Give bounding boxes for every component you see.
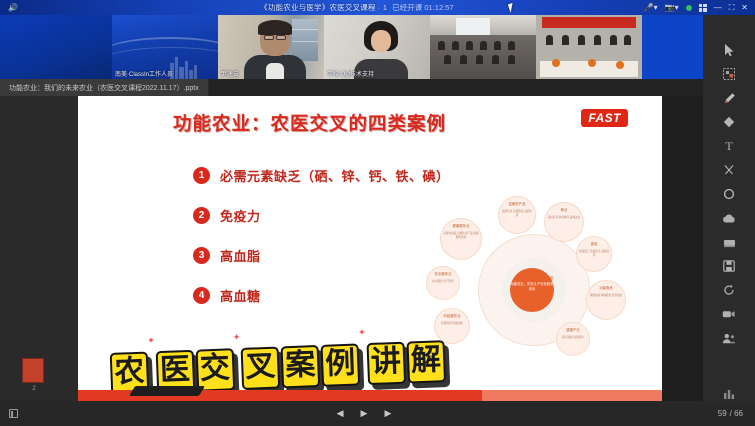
side-panel-icon[interactable] [9, 409, 18, 418]
participant-name: 南美·ClassIn工作人员 [115, 69, 173, 78]
node-text: 技术服务 生产服务 [427, 280, 459, 284]
person-hair [258, 20, 292, 35]
titlebar-right-group: 🎤▾ 📷▾ — ⛶ ✕ [644, 3, 755, 13]
close-button[interactable]: ✕ [741, 3, 748, 12]
person-face [371, 30, 391, 52]
node-text: 富硒大米 富硒蔬菜 富硒水果 [499, 210, 535, 218]
video-tile[interactable] [536, 15, 642, 79]
bar-chart-icon [723, 388, 735, 400]
bullet-number: 2 [193, 207, 210, 224]
infographic-core-label: 功能农业、学农业 产业化服务体系 [510, 282, 554, 292]
banner-char: 例 [321, 343, 361, 386]
canvas-right-margin [662, 96, 703, 401]
microphone-icon[interactable]: 🎤▾ [644, 4, 658, 12]
node-label: 功能食品 [587, 286, 625, 291]
grid-layout-icon[interactable] [699, 4, 707, 12]
refresh-icon [723, 284, 735, 296]
bullet-text: 高血脂 [220, 246, 261, 265]
cloud-upload[interactable] [716, 207, 742, 229]
participant-name: 尹逸云 [221, 69, 239, 78]
grid-select-icon [723, 68, 735, 80]
sparkle-icon: ✦ [358, 327, 366, 338]
video-tile[interactable]: 学校 QQ技术支持 [324, 15, 430, 79]
node-label: 种业 [545, 208, 583, 213]
eraser-tool[interactable] [716, 231, 742, 253]
previous-slide-button[interactable]: ◀ [337, 408, 344, 419]
shape-tool[interactable] [716, 111, 742, 133]
cloud-icon [722, 213, 736, 224]
footer-bar-highlight [482, 390, 662, 401]
infographic-core: 功能农业、学农业 产业化服务体系 [510, 268, 554, 312]
text-tool[interactable]: T [716, 135, 742, 157]
meeting-title-bar: 🔊 《功能农业与医学》农医交叉课程 · 1 已经开课 01:12:57 🎤▾ 📷… [0, 0, 755, 15]
video-tile[interactable] [0, 15, 112, 79]
video-tile[interactable]: 南美·ClassIn工作人员 [112, 15, 218, 79]
people-icon [722, 333, 736, 344]
bottombar-left-group [0, 409, 78, 418]
infographic-node: 健康服务业 功能性食品 功能性农产品 健康服务管理 [440, 218, 482, 260]
bullet-item: 4 高血糖 [193, 286, 261, 305]
node-label: 健康服务业 [441, 224, 481, 229]
meeting-title: 《功能农业与医学》农医交叉课程 · 1 [260, 2, 387, 13]
fast-logo: FAST [581, 109, 628, 127]
minimize-button[interactable]: — [714, 3, 722, 12]
bullet-number: 1 [193, 167, 210, 184]
grid-tool[interactable] [716, 63, 742, 85]
node-label: 农业服务业 [427, 272, 459, 277]
banner-char: 解 [406, 340, 446, 383]
window-decor [292, 19, 318, 61]
playback-bottom-bar: ◀ ▶ ▶ 59 / 66 [0, 401, 755, 426]
node-text: 保健食品 特殊膳食 营养强化 [587, 294, 625, 298]
banner-char: 叉 [241, 346, 281, 389]
save-tool[interactable] [716, 255, 742, 277]
sparkle-icon: ✦ [147, 335, 155, 346]
scissors-icon [723, 164, 735, 176]
red-banner-decor [542, 17, 636, 28]
node-label: 科技服务业 [435, 314, 469, 319]
bullet-text: 必需元素缺乏（硒、锌、钙、铁、碘） [220, 166, 450, 185]
slide-canvas[interactable]: 功能农业：农医交叉的四类案例 FAST 1 必需元素缺乏（硒、锌、钙、铁、碘） … [78, 96, 662, 401]
slide-title: 功能农业：农医交叉的四类案例 [173, 110, 446, 136]
speaker-icon[interactable]: 🔊 [8, 3, 18, 12]
node-label: 食品 [577, 242, 611, 247]
person-shirt [266, 63, 284, 79]
save-icon [723, 260, 735, 272]
eraser-icon [723, 237, 736, 248]
participant-video-strip: 南美·ClassIn工作人员 尹逸云 学校 QQ技术支持 [0, 15, 755, 79]
circle-icon [723, 188, 735, 200]
text-icon: T [725, 139, 732, 154]
titlebar-left-group: 🔊 [0, 3, 70, 12]
banner-char: 讲 [366, 342, 406, 385]
bullet-item: 3 高血脂 [193, 246, 261, 265]
node-text: 食品加工 食品安全 食品营养 [577, 250, 611, 258]
bottombar-right-group: 59 / 66 [650, 409, 755, 418]
participants-tool[interactable] [716, 327, 742, 349]
refresh-tool[interactable] [716, 279, 742, 301]
infographic-node: 食品 食品加工 食品安全 食品营养 [576, 236, 612, 272]
infographic-node: 富硒农产品 富硒大米 富硒蔬菜 富硒水果 [498, 196, 536, 234]
video-tile[interactable]: 尹逸云 [218, 15, 324, 79]
thumbnail-page-number: 2 [23, 386, 45, 392]
bullet-item: 1 必需元素缺乏（硒、锌、钙、铁、碘） [193, 166, 450, 185]
select-tool[interactable] [716, 39, 742, 61]
annotation-toolbar: T [703, 15, 755, 426]
sparkle-icon: ✦ [233, 332, 241, 343]
infographic-node: 种业 良种选育 种苗繁育 品种改良 [544, 202, 584, 242]
pen-tool[interactable] [716, 87, 742, 109]
total-page-count: / 66 [730, 409, 743, 418]
pointer-icon [724, 44, 735, 57]
main-content-area: 2 功能农业：农医交叉的四类案例 FAST 1 必需元素缺乏（硒、锌、钙、铁、碘… [0, 96, 755, 401]
bullet-number: 3 [193, 247, 210, 264]
ellipse-tool[interactable] [716, 183, 742, 205]
classroom-seats [430, 35, 536, 79]
slide-banner: 农 ✦ 医 交 ✦ 叉 案 例 ✦ 讲 解 [109, 317, 631, 395]
slide-thumbnail-rail[interactable]: 2 [0, 96, 78, 401]
file-tab-bar: 功能农业：我们的未来农业（农医交叉课程2022.11.17）.pptx [0, 79, 755, 96]
node-text: 良种选育 种苗繁育 品种改良 [545, 216, 583, 220]
slide-thumbnail[interactable]: 2 [22, 358, 44, 383]
bullet-text: 高血糖 [220, 286, 261, 305]
bullet-number: 4 [193, 287, 210, 304]
glasses-icon [276, 35, 286, 40]
node-text: 功能性食品 功能性农产品 健康服务管理 [441, 232, 481, 240]
slide-footer-bar [78, 390, 662, 401]
bullet-item: 2 免疫力 [193, 206, 261, 225]
infographic-node: 农业服务业 技术服务 生产服务 [426, 266, 460, 300]
bullet-text: 免疫力 [220, 206, 261, 225]
record-tool[interactable] [716, 303, 742, 325]
camera-icon[interactable]: 📷▾ [665, 4, 679, 12]
banner-char: 案 [281, 345, 321, 388]
meeting-elapsed-time: 已经开课 01:12:57 [392, 2, 453, 13]
cut-tool[interactable] [716, 159, 742, 181]
node-label: 富硒农产品 [499, 202, 535, 207]
infographic-node: 功能食品 保健食品 特殊膳食 营养强化 [586, 280, 626, 320]
shape-icon [723, 116, 735, 128]
record-icon [722, 309, 736, 319]
file-tab[interactable]: 功能农业：我们的未来农业（农医交叉课程2022.11.17）.pptx [0, 79, 209, 96]
current-page-number: 59 [718, 409, 727, 418]
status-dot-icon [686, 5, 692, 11]
pen-icon [723, 92, 736, 105]
next-slide-button[interactable]: ▶ [384, 408, 391, 419]
maximize-button[interactable]: ⛶ [729, 3, 735, 13]
play-button[interactable]: ▶ [361, 408, 368, 419]
projector-screen [456, 18, 490, 35]
playback-controls: ◀ ▶ ▶ [78, 408, 650, 419]
file-tab-label: 功能农业：我们的未来农业（农医交叉课程2022.11.17）.pptx [9, 83, 199, 93]
footer-bar-notch [129, 386, 205, 396]
participant-name: 学校 QQ技术支持 [327, 69, 374, 78]
glasses-icon [264, 35, 274, 40]
titlebar-center-group: 《功能农业与医学》农医交叉课程 · 1 已经开课 01:12:57 [70, 2, 644, 13]
video-tile[interactable] [430, 15, 536, 79]
